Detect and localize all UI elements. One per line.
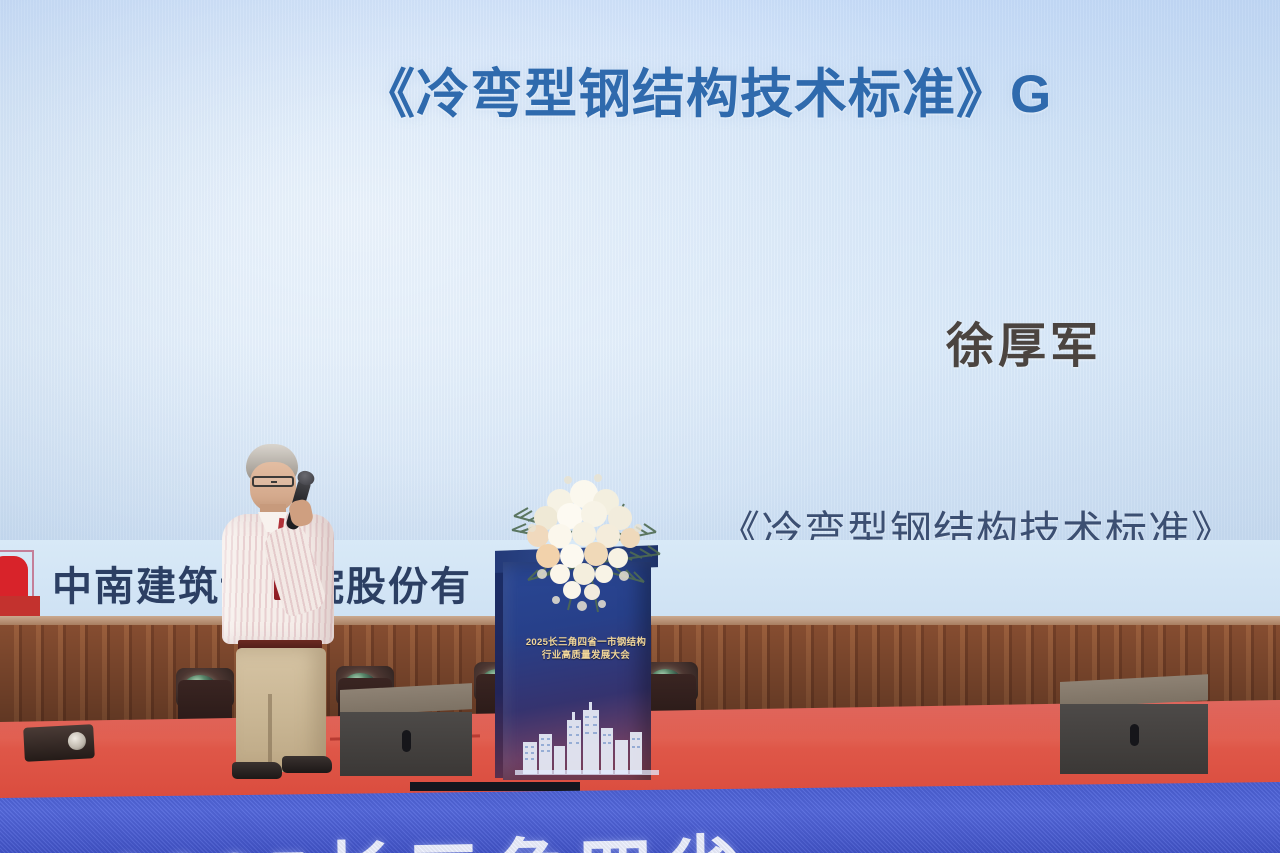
speaker-person (216, 444, 348, 780)
podium-branding-text: 2025长三角四省一市钢结构 行业高质量发展大会 (517, 636, 655, 662)
floral-arrangement (498, 470, 670, 620)
stage-monitor-wedge (340, 690, 472, 776)
glasses-icon (252, 476, 294, 487)
monitor-port (402, 730, 411, 752)
flower-blooms (527, 480, 640, 600)
podium-line-1: 2025长三角四省一市钢结构 (517, 636, 655, 649)
monitor-port (1130, 724, 1139, 746)
podium-line-2: 行业高质量发展大会 (517, 649, 655, 662)
conference-stage-photo: 《冷弯型钢结构技术标准》G 徐厚军 《冷弯型钢结构技术标准》 中南建筑设计院股份… (0, 0, 1280, 853)
led-banner-black-box (410, 782, 580, 791)
stage-monitor-wedge (1060, 682, 1208, 774)
banner-red-strip (0, 596, 40, 618)
speaker-shoe-left (232, 762, 282, 779)
speaker-shoe-right (282, 756, 332, 773)
slide-speaker-name: 徐厚军 (946, 306, 1102, 376)
speaker-trousers (236, 648, 326, 772)
stage-equipment-light (23, 724, 95, 762)
podium-base-line (515, 770, 659, 775)
city-skyline-graphic (521, 702, 653, 774)
slide-main-title: 《冷弯型钢结构技术标准》G (362, 52, 1280, 128)
